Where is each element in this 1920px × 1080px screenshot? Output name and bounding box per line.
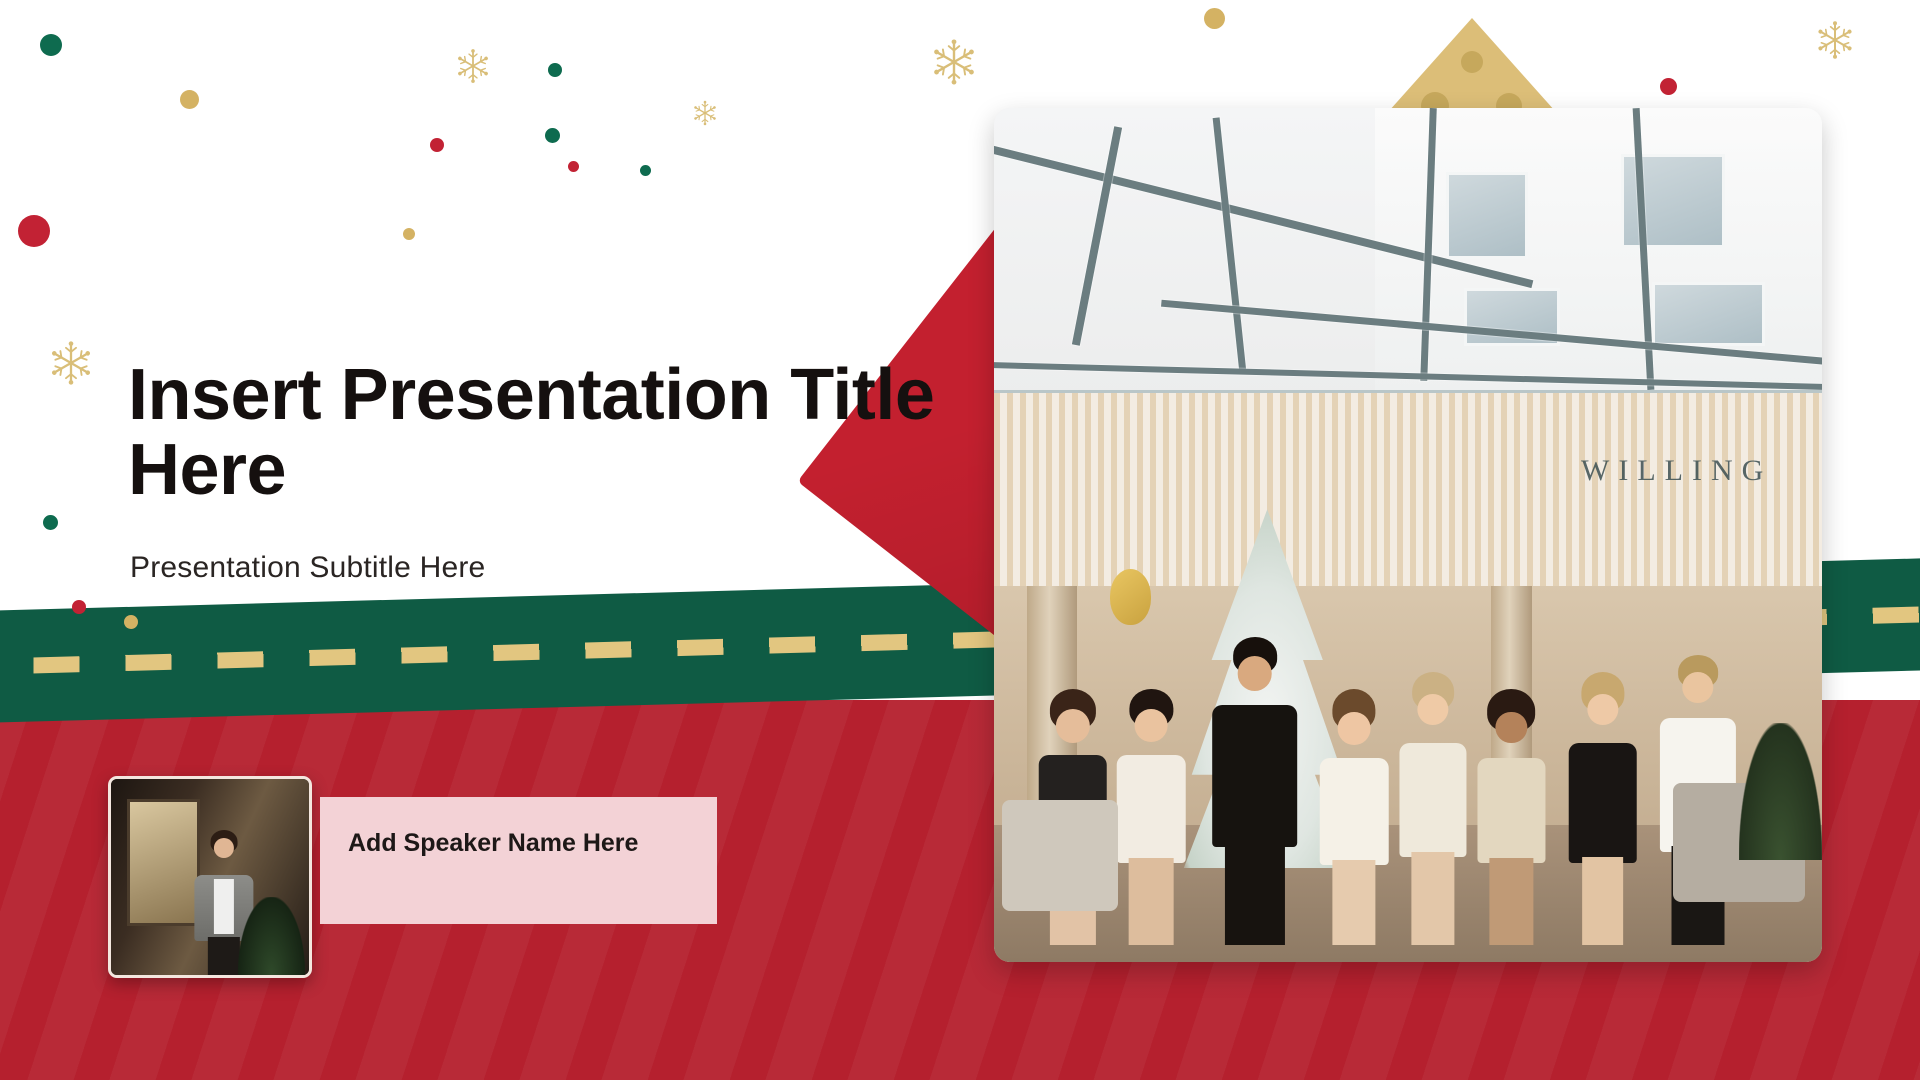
confetti-dot-green-5 — [640, 165, 651, 176]
snowflake-icon — [1815, 20, 1855, 60]
snowflake-icon — [455, 48, 491, 84]
confetti-dot-red-1 — [18, 215, 50, 247]
confetti-dot-gold-1 — [180, 90, 199, 109]
thumb-person-head — [214, 838, 234, 858]
confetti-dot-red-3 — [568, 161, 579, 172]
page-subtitle[interactable]: Presentation Subtitle Here — [130, 551, 485, 585]
confetti-dot-red-5 — [1660, 78, 1677, 95]
photo-guest — [1565, 672, 1640, 945]
confetti-dot-gold-2 — [403, 228, 415, 240]
snowflake-gold-4 — [48, 340, 94, 391]
snowflake-icon — [692, 100, 718, 126]
confetti-dot-green-2 — [545, 128, 560, 143]
snowflake-icon — [48, 340, 94, 386]
snowflake-gold-2 — [692, 100, 718, 131]
photo-plant — [1739, 723, 1822, 860]
page-title[interactable]: Insert Presentation Title Here — [128, 358, 948, 508]
thumb-plant — [238, 897, 305, 975]
confetti-dot-gold-3 — [124, 615, 138, 629]
photo-wall-sign: WILLING — [1581, 454, 1772, 488]
photo-window — [1446, 172, 1528, 259]
snowflake-gold-3 — [930, 38, 978, 91]
confetti-dot-green-4 — [43, 515, 58, 530]
thumb-window — [127, 799, 200, 927]
confetti-dot-gold-4 — [1204, 8, 1225, 29]
speaker-name-placeholder[interactable]: Add Speaker Name Here — [348, 827, 678, 859]
presentation-slide: WILLING — [0, 0, 1920, 1080]
snowflake-icon — [930, 38, 978, 86]
photo-gold-balloon — [1110, 569, 1151, 625]
photo-wood-slat-balcony — [994, 390, 1822, 589]
confetti-dot-green-1 — [40, 34, 62, 56]
photo-guest — [1114, 689, 1189, 945]
thumb-person-legs — [208, 937, 240, 978]
speaker-thumbnail-photo[interactable] — [108, 776, 312, 978]
speaker-name-box[interactable]: Add Speaker Name Here — [320, 797, 717, 924]
photo-sofa — [1002, 800, 1118, 911]
photo-guest — [1209, 637, 1300, 944]
snowflake-gold-5 — [1815, 20, 1855, 65]
confetti-dot-red-4 — [72, 600, 86, 614]
photo-guest — [1317, 689, 1392, 945]
main-party-photo[interactable]: WILLING — [994, 108, 1822, 962]
confetti-dot-green-3 — [548, 63, 562, 77]
snowflake-gold-1 — [455, 48, 491, 89]
photo-guest — [1474, 689, 1549, 945]
confetti-dot-red-2 — [430, 138, 444, 152]
thumb-person-shirt — [214, 879, 234, 934]
photo-window — [1652, 282, 1765, 346]
photo-guest — [1396, 672, 1471, 945]
